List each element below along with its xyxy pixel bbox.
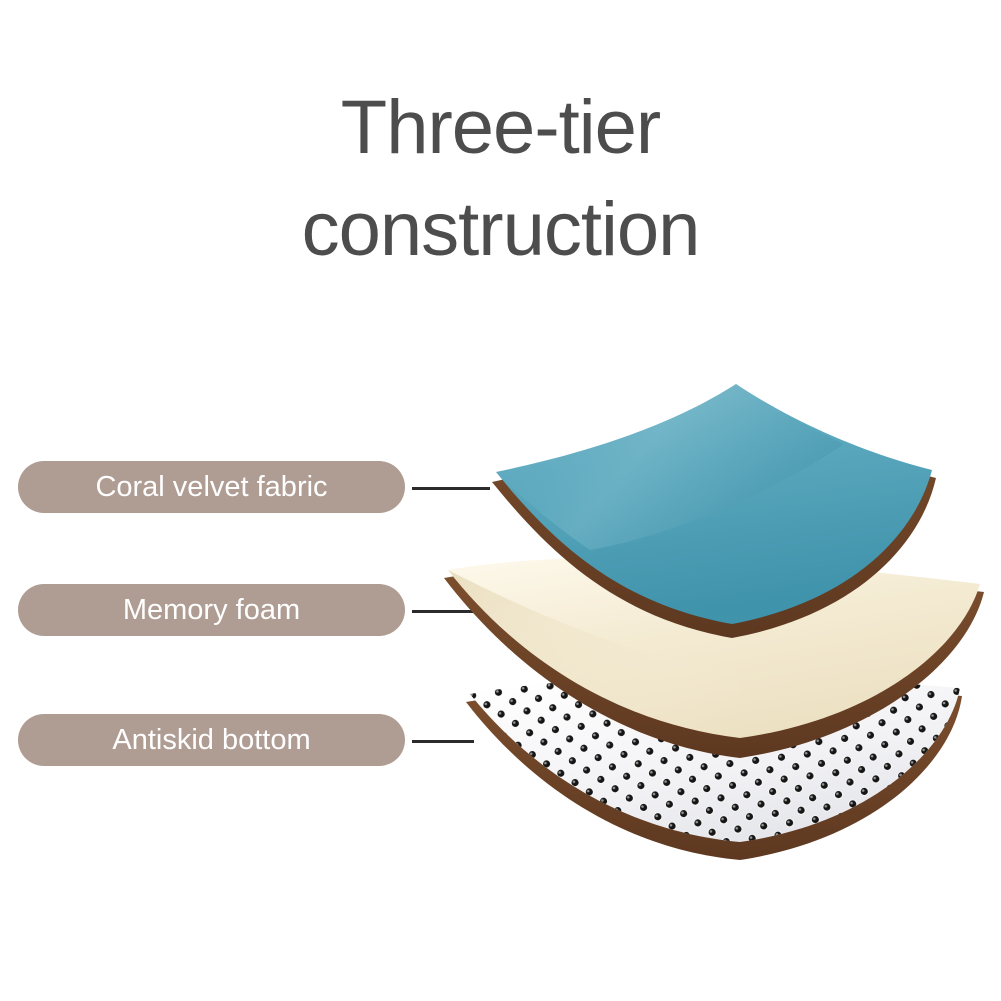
- page-title-line-2: construction: [0, 190, 1001, 270]
- layer-stack-diagram: [440, 372, 1000, 872]
- label-text-coral-velvet-fabric: Coral velvet fabric: [95, 471, 327, 504]
- page-title-line-1: Three-tier: [0, 88, 1001, 168]
- label-pill-antiskid-bottom: Antiskid bottom: [18, 714, 405, 766]
- infographic-page: Three-tier construction Coral velvet fab…: [0, 0, 1001, 1001]
- page-title: Three-tier construction: [0, 88, 1001, 270]
- label-text-memory-foam: Memory foam: [123, 594, 300, 627]
- label-text-antiskid-bottom: Antiskid bottom: [112, 724, 310, 757]
- label-pill-coral-velvet-fabric: Coral velvet fabric: [18, 461, 405, 513]
- label-pill-memory-foam: Memory foam: [18, 584, 405, 636]
